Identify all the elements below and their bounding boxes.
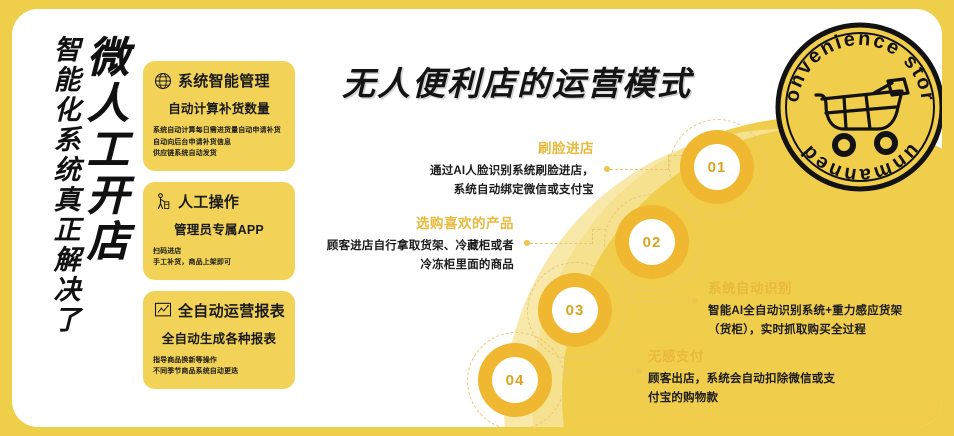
step-text-03: 系统自动识别 智能AI全自动识别系统+重力感应货架 （货柜），实时抓取购买全过程 bbox=[708, 277, 942, 339]
step-description: 通过AI人脸识别系统刷脸进店， 系统自动绑定微信或支付宝 bbox=[212, 162, 594, 199]
step-connector-02 bbox=[522, 229, 608, 245]
step-title: 系统自动识别 bbox=[708, 277, 942, 297]
step-number: 01 bbox=[708, 159, 727, 176]
step-circle-01: 01 bbox=[680, 130, 754, 204]
step-desc-line: 智能AI全自动识别系统+重力感应货架 bbox=[708, 302, 942, 321]
step-number: 04 bbox=[506, 372, 525, 389]
step-desc-line: 付宝的购物款 bbox=[648, 389, 928, 408]
step-connector-01 bbox=[602, 155, 684, 171]
step-desc-line: 通过AI人脸识别系统刷脸进店， bbox=[212, 162, 594, 181]
process-steps: 01 刷脸进店 通过AI人脸识别系统刷脸进店， 系统自动绑定微信或支付宝 02 bbox=[12, 9, 942, 427]
infographic-canvas: 微人工开店 智能化系统真正解决了 系统智能管理 自动计算补货数量 bbox=[0, 0, 954, 436]
step-description: 智能AI全自动识别系统+重力感应货架 （货柜），实时抓取购买全过程 bbox=[708, 302, 942, 339]
step-description: 顾客出店，系统会自动扣除微信或支 付宝的购物款 bbox=[648, 370, 928, 407]
step-connector-04 bbox=[552, 357, 652, 373]
step-circle-04: 04 bbox=[478, 343, 552, 417]
step-title: 选购喜欢的产品 bbox=[132, 212, 514, 232]
step-circle-03: 03 bbox=[538, 273, 612, 347]
step-connector-03 bbox=[612, 287, 704, 303]
step-description: 顾客进店自行拿取货架、冷藏柜或者 冷冻柜里面的商品 bbox=[132, 237, 514, 274]
step-title: 刷脸进店 bbox=[212, 137, 594, 157]
step-circle-02: 02 bbox=[615, 205, 689, 279]
step-text-04: 无感支付 顾客出店，系统会自动扣除微信或支 付宝的购物款 bbox=[648, 345, 928, 407]
white-panel: 微人工开店 智能化系统真正解决了 系统智能管理 自动计算补货数量 bbox=[12, 9, 942, 427]
step-desc-line: 冷冻柜里面的商品 bbox=[132, 256, 514, 275]
step-desc-line: 顾客出店，系统会自动扣除微信或支 bbox=[648, 370, 928, 389]
step-title: 无感支付 bbox=[648, 345, 928, 365]
step-desc-line: 系统自动绑定微信或支付宝 bbox=[212, 181, 594, 200]
step-text-01: 刷脸进店 通过AI人脸识别系统刷脸进店， 系统自动绑定微信或支付宝 bbox=[212, 137, 594, 199]
step-desc-line: （货柜），实时抓取购买全过程 bbox=[708, 321, 942, 340]
step-desc-line: 顾客进店自行拿取货架、冷藏柜或者 bbox=[132, 237, 514, 256]
step-text-02: 选购喜欢的产品 顾客进店自行拿取货架、冷藏柜或者 冷冻柜里面的商品 bbox=[132, 212, 514, 274]
step-number: 03 bbox=[566, 302, 585, 319]
step-number: 02 bbox=[643, 234, 662, 251]
